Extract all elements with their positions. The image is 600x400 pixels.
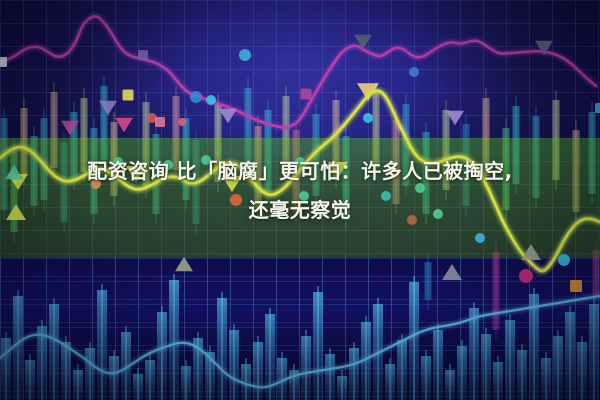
headline-line-2: 还毫无察觉	[0, 191, 600, 230]
headline-line-1: 配资咨询 比「脑腐」更可怕：许多人已被掏空,	[0, 152, 600, 191]
headline: 配资咨询 比「脑腐」更可怕：许多人已被掏空, 还毫无察觉	[0, 152, 600, 230]
chart-canvas: 配资咨询 比「脑腐」更可怕：许多人已被掏空, 还毫无察觉	[0, 0, 600, 400]
